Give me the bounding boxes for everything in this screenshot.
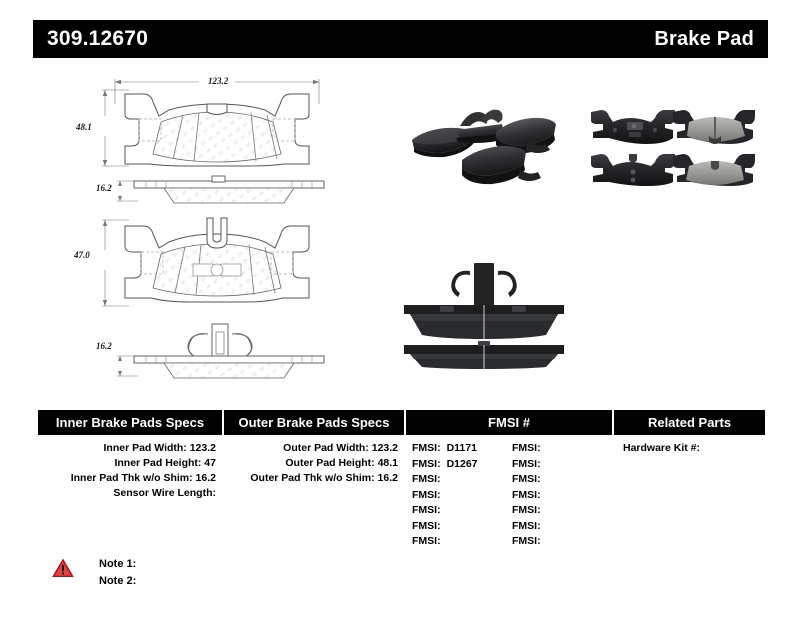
fmsi-value: [441, 520, 447, 532]
fmsi-row: FMSI:: [512, 441, 612, 457]
fmsi-label: FMSI:: [412, 458, 441, 470]
fmsi-row: FMSI:: [512, 534, 612, 550]
spec-line: Inner Pad Thk w/o Shim: 16.2: [38, 471, 224, 486]
part-number: 309.12670: [47, 27, 148, 51]
drawing-area: S: [0, 62, 800, 392]
fmsi-row: FMSI:D1267: [412, 457, 512, 473]
inner-pad-top-view: S: [95, 74, 335, 179]
outer-pad-height-dim: 47.0: [74, 250, 90, 260]
fmsi-value: [541, 535, 547, 547]
fmsi-label: FMSI:: [512, 535, 541, 547]
fmsi-value: [441, 535, 447, 547]
column-header-inner-specs: Inner Brake Pads Specs: [38, 410, 224, 435]
fmsi-value: D1171: [441, 442, 477, 454]
brake-pad-set-angled-photo: [398, 90, 578, 195]
fmsi-value: [541, 504, 547, 516]
fmsi-row: FMSI:: [412, 488, 512, 504]
note-line: Note 1:: [99, 556, 136, 573]
fmsi-label: FMSI:: [412, 473, 441, 485]
fmsi-value: [441, 489, 447, 501]
fmsi-value: [541, 442, 547, 454]
fmsi-row: FMSI:: [412, 534, 512, 550]
fmsi-label: FMSI:: [512, 473, 541, 485]
fmsi-label: FMSI:: [412, 520, 441, 532]
inner-pad-width-dim: 123.2: [208, 76, 228, 86]
related-part-line: Hardware Kit #:: [614, 441, 765, 456]
outer-specs-cell: Outer Pad Width: 123.2 Outer Pad Height:…: [224, 441, 406, 550]
fmsi-value: [541, 489, 547, 501]
fmsi-right-column: FMSI: FMSI: FMSI: FMSI: FMSI:: [512, 441, 612, 550]
fmsi-label: FMSI:: [512, 489, 541, 501]
spec-line: Inner Pad Height: 47: [38, 456, 224, 471]
fmsi-row: FMSI:: [412, 472, 512, 488]
title-bar: 309.12670 Brake Pad: [33, 20, 768, 58]
fmsi-left-column: FMSI:D1171 FMSI:D1267 FMSI: FMSI: FMSI:: [412, 441, 512, 550]
inner-pad-thickness-dim: 16.2: [96, 183, 112, 193]
fmsi-label: FMSI:: [412, 489, 441, 501]
fmsi-value: [541, 520, 547, 532]
fmsi-label: FMSI:: [512, 504, 541, 516]
brake-pad-pairs-front-back-photo: [585, 94, 757, 190]
fmsi-value: [541, 458, 547, 470]
note-list: Note 1: Note 2:: [99, 556, 136, 590]
specifications-table: Inner Brake Pads Specs Outer Brake Pads …: [38, 410, 765, 550]
product-type: Brake Pad: [654, 28, 754, 51]
fmsi-value: [441, 504, 447, 516]
table-header-row: Inner Brake Pads Specs Outer Brake Pads …: [38, 410, 765, 435]
fmsi-label: FMSI:: [512, 442, 541, 454]
fmsi-row: FMSI:: [512, 503, 612, 519]
fmsi-value: [541, 473, 547, 485]
fmsi-label: FMSI:: [512, 520, 541, 532]
fmsi-row: FMSI:: [512, 488, 612, 504]
outer-pad-side-view: [112, 318, 334, 382]
brake-pad-edge-view-with-clip-photo: [396, 257, 576, 369]
fmsi-label: FMSI:: [412, 442, 441, 454]
fmsi-row: FMSI:: [512, 519, 612, 535]
spec-line: Outer Pad Thk w/o Shim: 16.2: [224, 471, 406, 486]
column-header-fmsi: FMSI #: [406, 410, 614, 435]
warning-triangle-icon: [52, 558, 74, 578]
fmsi-row: FMSI:: [512, 457, 612, 473]
fmsi-cell: FMSI:D1171 FMSI:D1267 FMSI: FMSI: FMSI:: [406, 441, 614, 550]
table-body: Inner Pad Width: 123.2 Inner Pad Height:…: [38, 435, 765, 550]
fmsi-row: FMSI:: [412, 503, 512, 519]
related-parts-cell: Hardware Kit #:: [614, 441, 765, 550]
fmsi-value: [441, 473, 447, 485]
column-header-outer-specs: Outer Brake Pads Specs: [224, 410, 406, 435]
column-header-related-parts: Related Parts: [614, 410, 765, 435]
fmsi-value: D1267: [441, 458, 478, 470]
outer-pad-top-view: [95, 210, 335, 320]
spec-line: Outer Pad Height: 48.1: [224, 456, 406, 471]
inner-pad-side-view: [112, 175, 334, 211]
inner-pad-height-dim: 48.1: [76, 122, 92, 132]
fmsi-label: FMSI:: [412, 504, 441, 516]
outer-pad-thickness-dim: 16.2: [96, 341, 112, 351]
inner-specs-cell: Inner Pad Width: 123.2 Inner Pad Height:…: [38, 441, 224, 550]
fmsi-row: FMSI:: [512, 472, 612, 488]
spec-line: Outer Pad Width: 123.2: [224, 441, 406, 456]
fmsi-label: FMSI:: [412, 535, 441, 547]
fmsi-row: FMSI:D1171: [412, 441, 512, 457]
spec-line: Inner Pad Width: 123.2: [38, 441, 224, 456]
note-line: Note 2:: [99, 573, 136, 590]
fmsi-row: FMSI:: [412, 519, 512, 535]
spec-line: Sensor Wire Length:: [38, 486, 224, 501]
fmsi-label: FMSI:: [512, 458, 541, 470]
notes-section: Note 1: Note 2:: [52, 556, 136, 590]
